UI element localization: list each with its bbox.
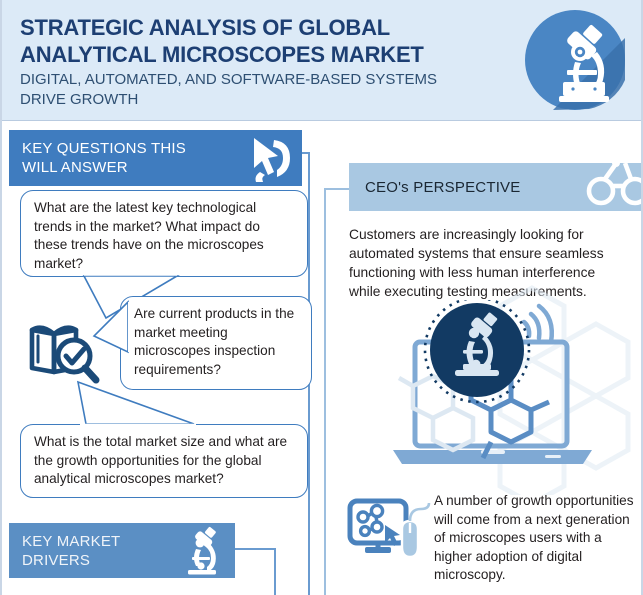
growth-opportunities-text: A number of growth opportunities will co… <box>434 492 640 585</box>
question-bubble-3: What is the total market size and what a… <box>20 424 308 498</box>
page-title: STRATEGIC ANALYSIS OF GLOBAL ANALYTICAL … <box>20 14 440 68</box>
connector-elbow-ceo <box>324 188 350 190</box>
section-header-ceo-perspective[interactable]: CEO's PERSPECTIVE <box>349 163 643 211</box>
connector-vertical-right <box>324 188 326 595</box>
header-banner: STRATEGIC ANALYSIS OF GLOBAL ANALYTICAL … <box>2 0 643 121</box>
question-bubble-1: What are the latest key technological tr… <box>20 190 308 277</box>
monitor-mouse-molecule-icon <box>347 497 433 567</box>
key-questions-label: KEY QUESTIONS THIS WILL ANSWER <box>22 139 186 177</box>
microscope-icon <box>179 526 227 576</box>
molecule-glasses-icon <box>585 163 643 211</box>
section-header-key-questions[interactable]: KEY QUESTIONS THIS WILL ANSWER <box>9 130 302 186</box>
page-subtitle: DIGITAL, AUTOMATED, AND SOFTWARE-BASED S… <box>20 70 450 110</box>
microscope-circle-icon <box>523 8 627 112</box>
question-text-1: What are the latest key technological tr… <box>21 191 307 282</box>
bubble-tail-2 <box>76 296 132 358</box>
key-drivers-label: KEY MARKET DRIVERS <box>22 532 120 570</box>
ceo-perspective-label: CEO's PERSPECTIVE <box>365 178 520 197</box>
question-text-3: What is the total market size and what a… <box>21 425 307 498</box>
cursor-arrow-icon <box>244 132 298 186</box>
connector-elbow-key-drivers <box>235 548 275 550</box>
section-header-key-drivers[interactable]: KEY MARKET DRIVERS <box>9 523 235 578</box>
infographic-page: STRATEGIC ANALYSIS OF GLOBAL ANALYTICAL … <box>0 0 643 595</box>
laptop-microscope-molecule-illustration <box>385 300 600 480</box>
question-bubble-2: Are current products in the market meeti… <box>120 296 312 390</box>
question-text-2: Are current products in the market meeti… <box>121 297 311 388</box>
connector-vertical-key-drivers <box>274 548 276 595</box>
bubble-tail-3 <box>64 378 209 430</box>
